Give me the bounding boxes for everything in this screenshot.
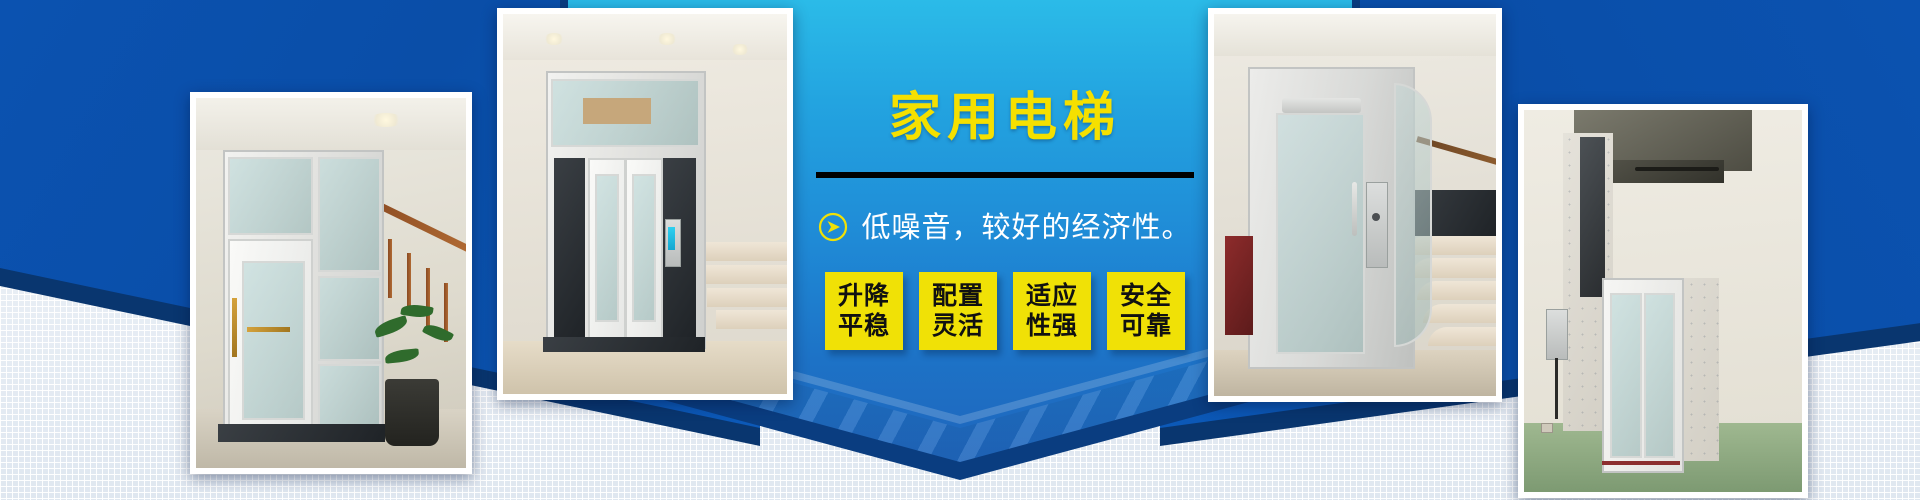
title-divider: [816, 172, 1194, 178]
feature-badge-line2: 可靠: [1120, 311, 1172, 342]
circled-play-arrow-icon: [818, 212, 848, 242]
photo-home-elevator-glass-shaft-stairs: [196, 98, 466, 468]
photo-card-1: [190, 92, 472, 474]
subtitle-text: 低噪音，较好的经济性。: [861, 213, 1191, 242]
feature-badge-line1: 升降: [838, 281, 890, 312]
feature-badge-line2: 平稳: [838, 311, 890, 342]
subtitle-row: 低噪音，较好的经济性。: [818, 212, 1191, 242]
page-title: 家用电梯: [889, 92, 1121, 144]
feature-badge-line1: 安全: [1120, 281, 1172, 312]
photo-card-3: [1208, 8, 1502, 402]
home-elevator-banner: 家用电梯 低噪音，较好的经济性。 升降 平稳 配置 灵活 适应 性强: [0, 0, 1920, 500]
feature-badge-list: 升降 平稳 配置 灵活 适应 性强 安全 可靠: [825, 272, 1185, 350]
feature-badge[interactable]: 适应 性强: [1013, 272, 1091, 350]
photo-card-4: [1518, 104, 1808, 498]
photo-stainless-glass-elevator-curved-stairs: [1214, 14, 1496, 396]
feature-badge[interactable]: 升降 平稳: [825, 272, 903, 350]
center-content: 家用电梯 低噪音，较好的经济性。 升降 平稳 配置 灵活 适应 性强: [780, 0, 1230, 462]
feature-badge-line2: 灵活: [932, 311, 984, 342]
feature-badge[interactable]: 配置 灵活: [919, 272, 997, 350]
feature-badge-line1: 配置: [932, 281, 984, 312]
photo-home-elevator-sliding-doors-marble-stairs: [503, 14, 787, 394]
feature-badge-line1: 适应: [1026, 281, 1078, 312]
feature-badge-line2: 性强: [1026, 311, 1078, 342]
photo-card-2: [497, 8, 793, 400]
feature-badge[interactable]: 安全 可靠: [1107, 272, 1185, 350]
photo-elevator-under-installation-protective-film: [1524, 110, 1802, 492]
